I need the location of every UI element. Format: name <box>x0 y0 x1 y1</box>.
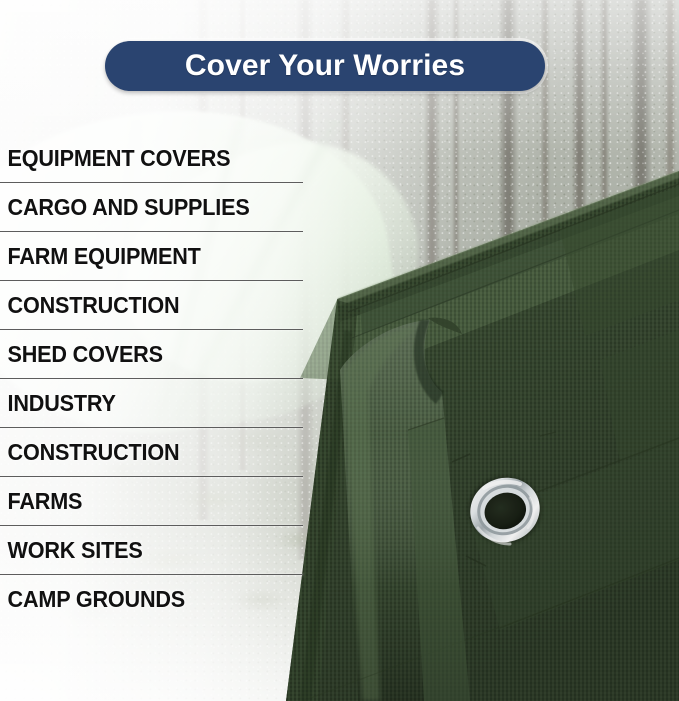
list-item: CAMP GROUNDS <box>0 575 310 624</box>
list-item: CONSTRUCTION <box>0 428 310 477</box>
use-case-label: EQUIPMENT COVERS <box>0 147 230 170</box>
use-case-list: EQUIPMENT COVERS CARGO AND SUPPLIES FARM… <box>0 134 310 624</box>
list-item: WORK SITES <box>0 526 310 575</box>
list-item: CARGO AND SUPPLIES <box>0 183 310 232</box>
use-case-label: CONSTRUCTION <box>0 441 179 464</box>
use-case-label: CARGO AND SUPPLIES <box>0 196 250 219</box>
use-case-label: INDUSTRY <box>0 392 116 415</box>
list-item: FARMS <box>0 477 310 526</box>
list-item: EQUIPMENT COVERS <box>0 134 310 183</box>
list-item: SHED COVERS <box>0 330 310 379</box>
use-case-label: FARM EQUIPMENT <box>0 245 201 268</box>
list-item: CONSTRUCTION <box>0 281 310 330</box>
title-banner: Cover Your Worries <box>105 41 545 91</box>
list-item: FARM EQUIPMENT <box>0 232 310 281</box>
use-case-label: CONSTRUCTION <box>0 294 179 317</box>
product-image: Cover Your Worries EQUIPMENT COVERS CARG… <box>0 0 679 701</box>
use-case-label: CAMP GROUNDS <box>0 588 185 611</box>
list-item: INDUSTRY <box>0 379 310 428</box>
use-case-label: SHED COVERS <box>0 343 163 366</box>
banner-title-text: Cover Your Worries <box>185 49 465 83</box>
use-case-label: FARMS <box>0 490 82 513</box>
use-case-label: WORK SITES <box>0 539 143 562</box>
